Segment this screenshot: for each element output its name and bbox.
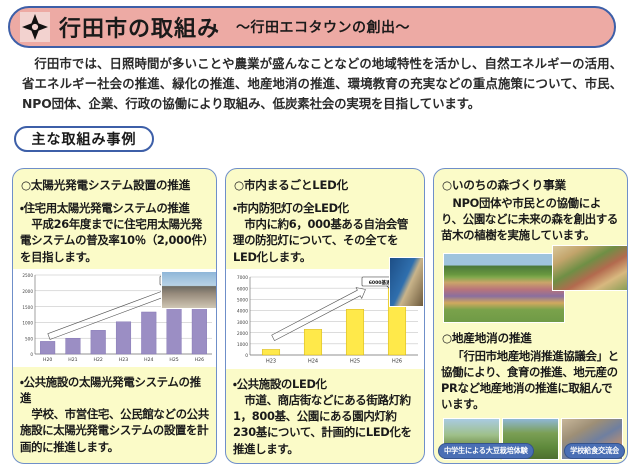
photo-caption-row: 中学生による大豆栽培体験 学校給食交流会 [438, 443, 625, 459]
svg-text:500: 500 [25, 336, 33, 341]
caption-school-lunch: 学校給食交流会 [564, 443, 625, 459]
svg-text:2000: 2000 [237, 331, 248, 337]
section-heading: 主な取組み事例 [14, 126, 154, 152]
svg-text:H22: H22 [94, 357, 103, 363]
card-led-conversion: ○市内まるごとLED化 ・市内防犯灯の全LED化 市内に約6，000基ある自治会… [225, 168, 425, 464]
card-led-item-2-body: 市道、商店街などにある街路灯約1，800基、公園にある園内灯約230基について、… [233, 392, 418, 457]
svg-text:4000: 4000 [237, 308, 248, 314]
svg-text:2500: 2500 [22, 273, 33, 278]
svg-text:5000: 5000 [237, 297, 248, 303]
svg-text:1000: 1000 [22, 320, 33, 325]
page-title: 行田市の取組み [59, 11, 220, 43]
card-led-item-1-lead: ・市内防犯灯の全LED化 [233, 200, 418, 216]
intro-paragraph: 行田市では、日照時間が多いことや農業が盛んなことなどの地域特性を活かし、自然エネ… [22, 54, 622, 114]
card-solar-item-2: ・公共施設の太陽光発電システムの推進 学校、市営住宅、公民館などの公共施設に太陽… [20, 374, 210, 455]
svg-text:H25: H25 [350, 358, 360, 364]
card-solar-power: ○太陽光発電システム設置の推進 ・住宅用太陽光発電システムの推進 平成26年度ま… [12, 168, 217, 464]
page-header-banner: 行田市の取組み ～行田エコタウンの創出～ [8, 6, 616, 48]
led-streetlight-photo [389, 257, 424, 307]
svg-text:0: 0 [30, 352, 33, 357]
section-heading-label: 主な取組み事例 [32, 129, 137, 149]
children-planting-photo [552, 245, 628, 291]
svg-text:H25: H25 [169, 357, 178, 363]
card-solar-heading: ○太陽光発電システム設置の推進 [21, 177, 216, 193]
svg-text:H26: H26 [195, 357, 204, 363]
svg-text:H21: H21 [68, 357, 77, 363]
card-led-heading: ○市内まるごとLED化 [234, 177, 424, 193]
svg-text:6000: 6000 [237, 286, 248, 292]
svg-text:7000: 7000 [237, 275, 248, 281]
solar-house-photo [161, 271, 217, 309]
caption-soybean: 中学生による大豆栽培体験 [438, 443, 534, 459]
svg-text:3000: 3000 [237, 320, 248, 326]
svg-text:H24: H24 [308, 358, 318, 364]
card-led-item-2-lead: ・公共施設のLED化 [233, 376, 418, 392]
card-solar-item-1: ・住宅用太陽光発電システムの推進 平成26年度までに住宅用太陽光発電システムの普… [20, 200, 210, 265]
svg-text:1000: 1000 [237, 342, 248, 348]
card-led-item-1: ・市内防犯灯の全LED化 市内に約6，000基ある自治会管理の防犯灯について、そ… [233, 200, 418, 265]
svg-text:2000: 2000 [22, 289, 33, 294]
svg-text:0: 0 [245, 353, 248, 359]
svg-text:H23: H23 [266, 358, 276, 364]
chart-solar-adoption: 05001000150020002500H20H21H22H23H24H25H2… [13, 269, 216, 367]
chart-led-installations: 01000200030004000500060007000H23H24H25H2… [226, 269, 424, 369]
card-forest-and-local-production: ○いのちの森づくり事業 NPO団体や市民との協働により、公園などに未来の森を創出… [433, 168, 628, 464]
card-solar-item-2-lead: ・公共施設の太陽光発電システムの推進 [20, 374, 210, 406]
card-forest-heading: ○いのちの森づくり事業 [442, 177, 627, 193]
card-solar-item-1-body: 平成26年度までに住宅用太陽光発電システムの普及率10％（2,000件）を目指し… [20, 216, 210, 265]
card-solar-item-2-body: 学校、市営住宅、公民館などの公共施設に太陽光発電システムの設置を計画的に推進しま… [20, 406, 210, 455]
svg-text:H20: H20 [43, 357, 52, 363]
svg-text:1500: 1500 [22, 305, 33, 310]
gyoda-city-emblem-icon [20, 12, 50, 42]
card-local-production-body: 「行田市地産地消推進協議会」と協働により、食育の推進、地元産のPRなど地産地消の… [441, 348, 621, 413]
card-led-item-2: ・公共施設のLED化 市道、商店街などにある街路灯約1，800基、公園にある園内… [233, 376, 418, 457]
svg-text:H26: H26 [392, 358, 402, 364]
card-local-production-heading: ○地産地消の推進 [442, 330, 627, 346]
intro-text: 行田市では、日照時間が多いことや農業が盛んなことなどの地域特性を活かし、自然エネ… [22, 54, 622, 114]
page-subtitle: ～行田エコタウンの創出～ [236, 17, 410, 37]
svg-text:H23: H23 [119, 357, 128, 363]
tree-planting-group-photo [443, 253, 565, 323]
svg-text:H24: H24 [144, 357, 153, 363]
card-solar-item-1-lead: ・住宅用太陽光発電システムの推進 [20, 200, 210, 216]
card-forest-body: NPO団体や市民との協働により、公園などに未来の森を創出する苗木の植樹を実施して… [441, 195, 621, 244]
